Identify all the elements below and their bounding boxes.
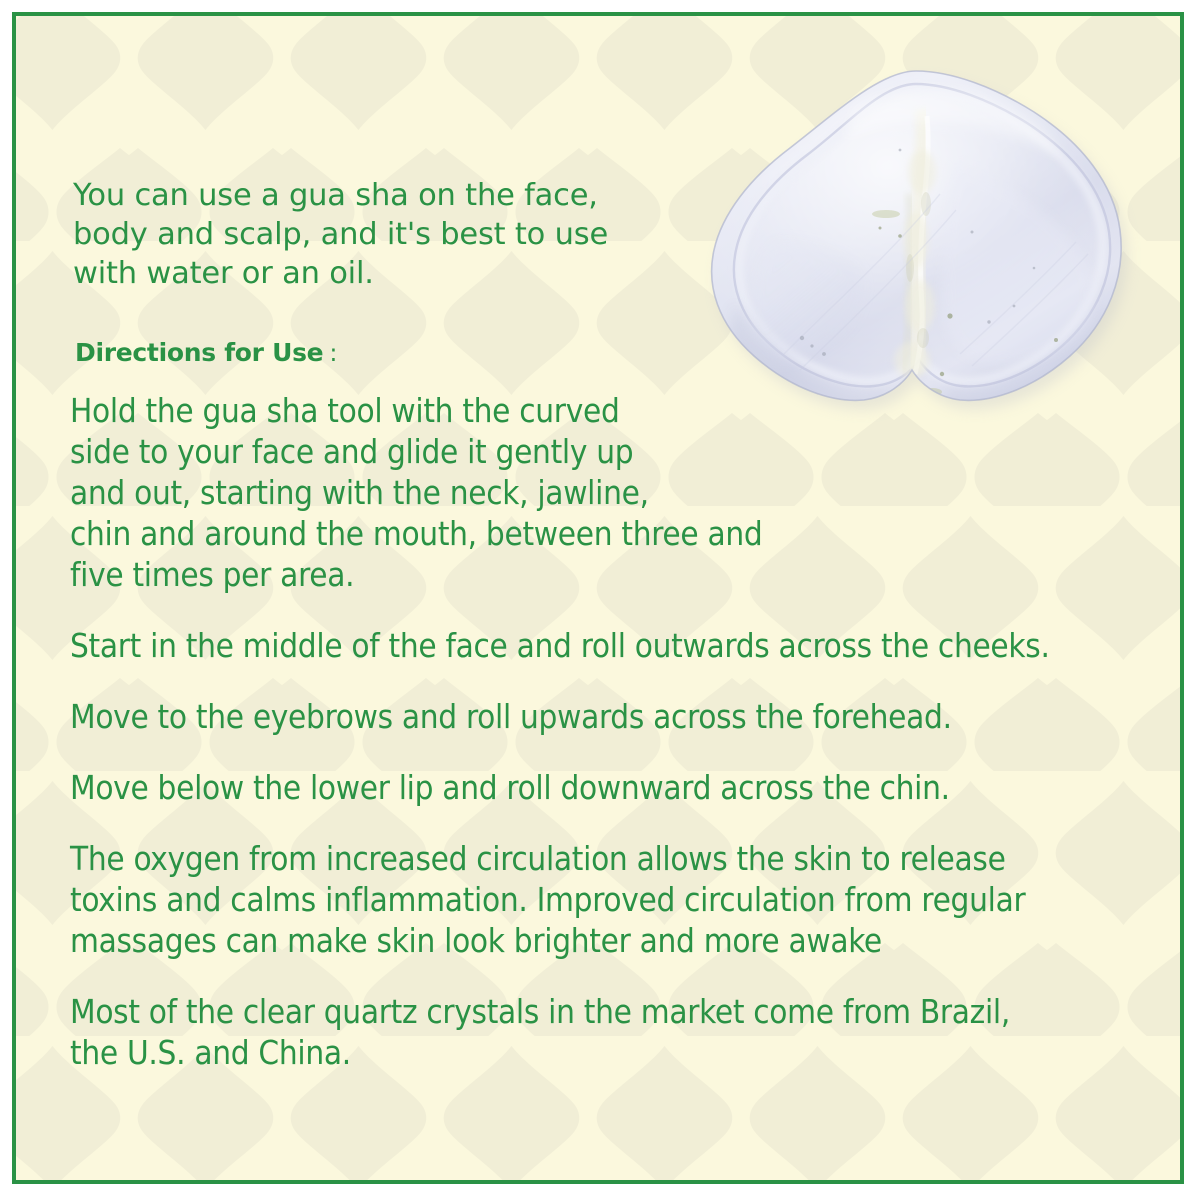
step-paragraph-4: Move below the lower lip and roll downwa… <box>58 767 1138 808</box>
step-paragraph-2: Start in the middle of the face and roll… <box>58 625 1138 666</box>
directions-heading: Directions for Use : <box>58 338 1138 368</box>
content-canvas: You can use a gua sha on the face, body … <box>16 16 1180 1180</box>
step-paragraph-1: Hold the gua sha tool with the curved si… <box>58 390 1138 595</box>
intro-paragraph: You can use a gua sha on the face, body … <box>58 176 1138 293</box>
step-paragraph-3: Move to the eyebrows and roll upwards ac… <box>58 696 1138 737</box>
directions-heading-colon: : <box>329 338 337 368</box>
directions-heading-label: Directions for Use <box>75 338 323 368</box>
step-paragraph-6: Most of the clear quartz crystals in the… <box>58 991 1138 1073</box>
page-root: You can use a gua sha on the face, body … <box>0 0 1200 1200</box>
text-column: You can use a gua sha on the face, body … <box>58 176 1138 1073</box>
step-paragraph-5: The oxygen from increased circulation al… <box>58 838 1138 961</box>
green-border-frame: You can use a gua sha on the face, body … <box>12 12 1184 1184</box>
